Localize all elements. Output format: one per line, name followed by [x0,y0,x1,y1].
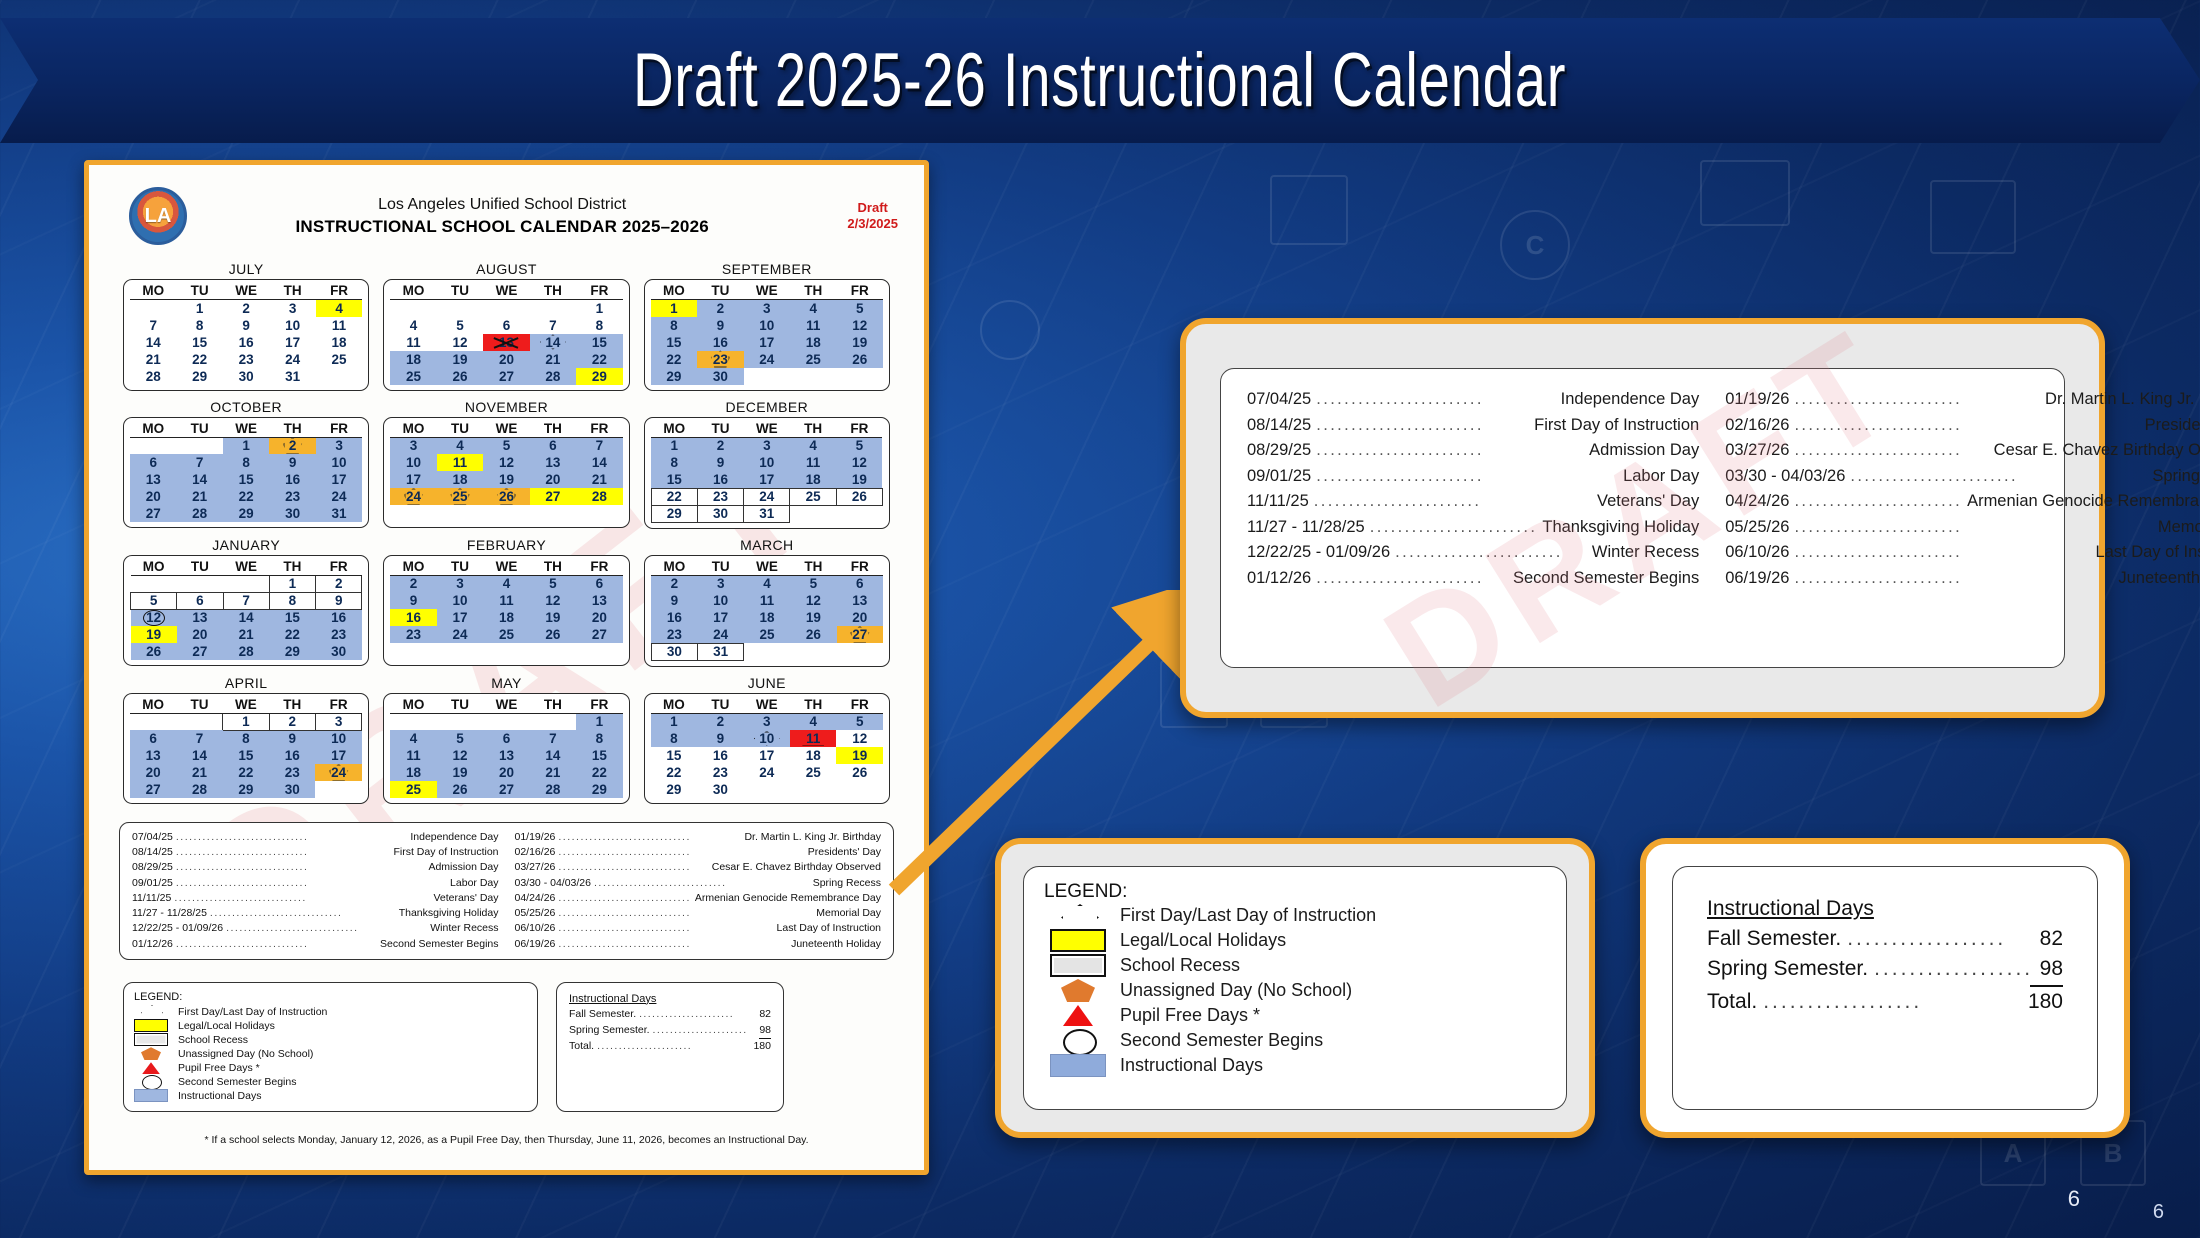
calendar-day-cell[interactable]: 12 [131,609,177,626]
calendar-day-cell[interactable]: 6 [530,437,576,454]
calendar-day-cell[interactable]: 27 [130,505,176,522]
calendar-day-cell[interactable]: 4 [790,713,836,730]
calendar-day-cell[interactable]: 12 [790,592,836,609]
calendar-day-cell[interactable]: 25 [437,488,483,505]
calendar-day-cell[interactable]: 28 [223,643,269,660]
calendar-day-cell[interactable]: 31 [744,505,790,522]
calendar-day-cell[interactable]: 27 [177,643,223,660]
calendar-day-cell[interactable]: 18 [744,609,790,626]
calendar-day-cell[interactable] [176,713,222,730]
calendar-day-cell[interactable]: 7 [176,454,222,471]
calendar-day-cell[interactable]: 21 [176,764,222,781]
calendar-day-cell[interactable]: 8 [651,454,697,471]
calendar-day-cell[interactable]: 5 [437,730,483,747]
calendar-day-cell[interactable] [390,300,436,317]
calendar-day-cell[interactable]: 29 [576,368,623,385]
calendar-day-cell[interactable]: 27 [483,781,529,798]
calendar-day-cell[interactable]: 5 [836,713,883,730]
calendar-day-cell[interactable]: 17 [698,609,744,626]
calendar-day-cell[interactable]: 29 [651,505,697,522]
calendar-day-cell[interactable]: 3 [390,437,436,454]
calendar-day-cell[interactable] [176,437,222,454]
calendar-day-cell[interactable]: 28 [176,781,222,798]
calendar-day-cell[interactable]: 1 [651,713,697,730]
calendar-day-cell[interactable] [390,713,436,730]
calendar-day-cell[interactable]: 11 [437,454,483,471]
calendar-day-cell[interactable]: 22 [651,488,697,505]
calendar-day-cell[interactable]: 18 [390,351,436,368]
calendar-day-cell[interactable]: 28 [130,368,176,385]
calendar-day-cell[interactable]: 24 [698,626,744,643]
calendar-day-cell[interactable]: 8 [576,317,623,334]
calendar-day-cell[interactable] [530,713,576,730]
calendar-day-cell[interactable]: 15 [651,334,697,351]
calendar-day-cell[interactable]: 28 [530,781,576,798]
calendar-day-cell[interactable]: 30 [316,643,362,660]
calendar-day-cell[interactable]: 22 [223,764,269,781]
calendar-day-cell[interactable]: 10 [315,730,361,747]
calendar-day-cell[interactable] [437,300,483,317]
calendar-day-cell[interactable] [177,575,223,592]
calendar-day-cell[interactable]: 4 [390,730,436,747]
calendar-day-cell[interactable]: 6 [130,454,176,471]
calendar-day-cell[interactable]: 10 [437,592,483,609]
calendar-day-cell[interactable]: 26 [483,488,529,505]
calendar-day-cell[interactable]: 28 [530,368,576,385]
calendar-day-cell[interactable]: 17 [744,747,790,764]
calendar-day-cell[interactable]: 2 [697,713,743,730]
calendar-day-cell[interactable]: 23 [697,488,743,505]
calendar-day-cell[interactable]: 9 [223,317,269,334]
calendar-day-cell[interactable] [744,643,790,660]
calendar-day-cell[interactable] [390,643,436,660]
calendar-day-cell[interactable] [836,781,883,798]
calendar-day-cell[interactable]: 1 [651,300,697,317]
calendar-day-cell[interactable] [744,781,790,798]
calendar-day-cell[interactable]: 31 [316,505,363,522]
calendar-day-cell[interactable]: 25 [744,626,790,643]
calendar-day-cell[interactable] [223,575,269,592]
calendar-day-cell[interactable]: 8 [176,317,222,334]
calendar-day-cell[interactable]: 12 [530,592,576,609]
calendar-day-cell[interactable]: 3 [315,713,361,730]
calendar-day-cell[interactable]: 24 [744,351,790,368]
calendar-day-cell[interactable]: 16 [697,334,743,351]
calendar-day-cell[interactable]: 30 [269,781,315,798]
calendar-day-cell[interactable]: 7 [530,317,576,334]
calendar-day-cell[interactable]: 16 [223,334,269,351]
legend-panel[interactable]: LEGEND: First Day/Last Day of Instructio… [995,838,1595,1138]
calendar-day-cell[interactable]: 12 [836,730,883,747]
calendar-day-cell[interactable]: 10 [316,454,363,471]
calendar-day-cell[interactable]: 16 [269,747,315,764]
calendar-day-cell[interactable]: 19 [836,334,883,351]
calendar-day-cell[interactable]: 7 [576,437,623,454]
calendar-day-cell[interactable] [483,713,529,730]
calendar-day-cell[interactable]: 31 [269,368,315,385]
calendar-day-cell[interactable]: 29 [223,505,269,522]
calendar-day-cell[interactable] [437,713,483,730]
calendar-day-cell[interactable] [483,505,529,522]
calendar-day-cell[interactable]: 29 [576,781,623,798]
calendar-day-cell[interactable]: 7 [530,730,576,747]
calendar-day-cell[interactable]: 26 [437,368,483,385]
calendar-day-cell[interactable]: 15 [223,747,269,764]
calendar-day-cell[interactable]: 18 [483,609,529,626]
calendar-day-cell[interactable] [437,643,483,660]
calendar-day-cell[interactable]: 20 [177,626,223,643]
calendar-sheet[interactable]: DRAFT Los Angeles Unified School Distric… [84,160,929,1175]
calendar-day-cell[interactable]: 16 [390,609,436,626]
calendar-day-cell[interactable]: 12 [437,747,483,764]
calendar-day-cell[interactable]: 14 [223,609,269,626]
calendar-day-cell[interactable]: 18 [790,334,836,351]
calendar-day-cell[interactable] [437,505,483,522]
calendar-day-cell[interactable] [530,300,576,317]
calendar-day-cell[interactable]: 29 [223,781,269,798]
calendar-day-cell[interactable]: 21 [576,471,623,488]
calendar-day-cell[interactable]: 4 [437,437,483,454]
calendar-day-cell[interactable]: 23 [269,488,315,505]
calendar-day-cell[interactable]: 11 [390,747,436,764]
calendar-day-cell[interactable]: 20 [130,488,176,505]
calendar-day-cell[interactable]: 22 [223,488,269,505]
calendar-day-cell[interactable]: 2 [697,300,743,317]
calendar-day-cell[interactable]: 11 [790,454,836,471]
calendar-day-cell[interactable]: 24 [744,764,790,781]
calendar-day-cell[interactable]: 26 [836,488,882,505]
calendar-day-cell[interactable]: 11 [316,317,363,334]
calendar-day-cell[interactable] [744,368,790,385]
calendar-day-cell[interactable]: 28 [576,488,623,505]
calendar-day-cell[interactable]: 9 [697,454,743,471]
calendar-day-cell[interactable]: 20 [837,609,883,626]
calendar-day-cell[interactable]: 28 [176,505,222,522]
calendar-day-cell[interactable] [530,643,576,660]
calendar-day-cell[interactable]: 20 [483,764,529,781]
calendar-day-cell[interactable]: 7 [223,592,269,609]
calendar-day-cell[interactable]: 25 [790,764,836,781]
calendar-day-cell[interactable]: 1 [223,713,269,730]
calendar-day-cell[interactable]: 22 [651,351,697,368]
calendar-day-cell[interactable]: 30 [651,643,697,660]
calendar-day-cell[interactable]: 3 [316,437,363,454]
calendar-day-cell[interactable]: 27 [483,368,529,385]
calendar-day-cell[interactable]: 6 [837,575,883,592]
calendar-day-cell[interactable]: 8 [223,730,269,747]
calendar-day-cell[interactable]: 25 [390,368,436,385]
calendar-day-cell[interactable] [130,300,176,317]
calendar-day-cell[interactable]: 24 [390,488,436,505]
calendar-day-cell[interactable]: 4 [790,437,836,454]
calendar-day-cell[interactable]: 1 [576,300,623,317]
calendar-day-cell[interactable]: 26 [790,626,836,643]
calendar-day-cell[interactable]: 29 [651,781,697,798]
calendar-day-cell[interactable] [837,643,883,660]
calendar-day-cell[interactable]: 5 [790,575,836,592]
calendar-day-cell[interactable]: 21 [530,764,576,781]
calendar-day-cell[interactable]: 9 [651,592,697,609]
calendar-day-cell[interactable]: 25 [790,351,836,368]
calendar-day-cell[interactable]: 19 [483,471,529,488]
calendar-day-cell[interactable]: 16 [651,609,697,626]
calendar-day-cell[interactable]: 18 [790,747,836,764]
calendar-day-cell[interactable]: 8 [651,317,697,334]
calendar-day-cell[interactable]: 27 [130,781,176,798]
calendar-day-cell[interactable] [130,713,176,730]
calendar-day-cell[interactable]: 21 [223,626,269,643]
calendar-day-cell[interactable]: 2 [269,437,315,454]
calendar-day-cell[interactable]: 1 [223,437,269,454]
calendar-day-cell[interactable]: 2 [697,437,743,454]
calendar-day-cell[interactable] [790,781,836,798]
calendar-day-cell[interactable]: 5 [483,437,529,454]
calendar-day-cell[interactable]: 2 [390,575,436,592]
calendar-day-cell[interactable] [790,505,836,522]
calendar-day-cell[interactable]: 13 [483,747,529,764]
calendar-day-cell[interactable]: 1 [576,713,623,730]
calendar-day-cell[interactable]: 6 [483,317,529,334]
calendar-day-cell[interactable] [315,781,361,798]
calendar-day-cell[interactable]: 14 [530,334,576,351]
calendar-day-cell[interactable]: 14 [176,747,222,764]
calendar-day-cell[interactable]: 9 [697,317,743,334]
calendar-day-cell[interactable]: 23 [651,626,697,643]
calendar-day-cell[interactable]: 13 [576,592,623,609]
calendar-day-cell[interactable]: 19 [131,626,177,643]
calendar-day-cell[interactable]: 30 [269,505,315,522]
calendar-day-cell[interactable]: 16 [697,471,743,488]
calendar-day-cell[interactable]: 3 [269,300,315,317]
calendar-day-cell[interactable]: 17 [390,471,436,488]
calendar-day-cell[interactable]: 14 [576,454,623,471]
calendar-day-cell[interactable]: 8 [223,454,269,471]
calendar-day-cell[interactable]: 19 [790,609,836,626]
calendar-day-cell[interactable]: 30 [697,368,743,385]
calendar-day-cell[interactable]: 17 [269,334,315,351]
calendar-day-cell[interactable]: 12 [483,454,529,471]
calendar-day-cell[interactable]: 24 [316,488,363,505]
calendar-day-cell[interactable]: 5 [131,592,177,609]
calendar-day-cell[interactable]: 9 [390,592,436,609]
calendar-day-cell[interactable]: 5 [836,300,883,317]
calendar-day-cell[interactable]: 13 [530,454,576,471]
calendar-day-cell[interactable]: 15 [576,747,623,764]
calendar-day-cell[interactable]: 9 [697,730,743,747]
calendar-day-cell[interactable]: 7 [176,730,222,747]
calendar-day-cell[interactable]: 17 [744,334,790,351]
calendar-day-cell[interactable]: 17 [437,609,483,626]
calendar-day-cell[interactable]: 26 [131,643,177,660]
calendar-day-cell[interactable]: 13 [130,471,176,488]
calendar-day-cell[interactable]: 14 [130,334,176,351]
calendar-day-cell[interactable]: 16 [697,747,743,764]
calendar-day-cell[interactable]: 18 [390,764,436,781]
calendar-day-cell[interactable] [836,505,882,522]
calendar-day-cell[interactable]: 24 [269,351,315,368]
calendar-day-cell[interactable] [316,368,363,385]
calendar-day-cell[interactable]: 17 [316,471,363,488]
calendar-day-cell[interactable]: 11 [744,592,790,609]
calendar-day-cell[interactable] [483,643,529,660]
calendar-day-cell[interactable]: 22 [176,351,222,368]
calendar-day-cell[interactable]: 27 [837,626,883,643]
calendar-day-cell[interactable]: 22 [576,351,623,368]
calendar-day-cell[interactable]: 23 [390,626,436,643]
calendar-day-cell[interactable]: 8 [576,730,623,747]
calendar-day-cell[interactable] [530,505,576,522]
holidays-panel[interactable]: DRAFT 07/04/25........................In… [1180,318,2105,718]
calendar-day-cell[interactable]: 19 [437,351,483,368]
calendar-day-cell[interactable]: 21 [176,488,222,505]
calendar-day-cell[interactable]: 13 [483,334,529,351]
calendar-day-cell[interactable]: 25 [390,781,436,798]
calendar-day-cell[interactable]: 4 [390,317,436,334]
calendar-day-cell[interactable]: 11 [390,334,436,351]
calendar-day-cell[interactable]: 22 [651,764,697,781]
calendar-day-cell[interactable]: 10 [744,317,790,334]
calendar-day-cell[interactable]: 10 [698,592,744,609]
calendar-day-cell[interactable]: 10 [744,730,790,747]
calendar-day-cell[interactable]: 26 [836,764,883,781]
calendar-day-cell[interactable] [836,368,883,385]
calendar-day-cell[interactable]: 24 [315,764,361,781]
calendar-day-cell[interactable]: 4 [483,575,529,592]
calendar-day-cell[interactable]: 23 [316,626,362,643]
calendar-day-cell[interactable]: 13 [130,747,176,764]
calendar-day-cell[interactable]: 8 [651,730,697,747]
calendar-day-cell[interactable] [790,643,836,660]
calendar-day-cell[interactable]: 13 [837,592,883,609]
calendar-day-cell[interactable]: 26 [437,781,483,798]
calendar-day-cell[interactable]: 26 [530,626,576,643]
calendar-day-cell[interactable]: 29 [176,368,222,385]
calendar-day-cell[interactable]: 25 [483,626,529,643]
instructional-days-panel[interactable]: Instructional Days Fall Semester........… [1640,838,2130,1138]
calendar-day-cell[interactable]: 16 [316,609,362,626]
calendar-day-cell[interactable]: 30 [697,781,743,798]
calendar-day-cell[interactable]: 20 [483,351,529,368]
calendar-day-cell[interactable]: 3 [698,575,744,592]
calendar-day-cell[interactable]: 23 [223,351,269,368]
calendar-day-cell[interactable]: 11 [790,730,836,747]
calendar-day-cell[interactable]: 12 [437,334,483,351]
calendar-day-cell[interactable]: 17 [315,747,361,764]
calendar-day-cell[interactable]: 14 [530,747,576,764]
calendar-day-cell[interactable]: 22 [269,626,315,643]
calendar-day-cell[interactable]: 1 [651,437,697,454]
calendar-day-cell[interactable]: 29 [269,643,315,660]
calendar-day-cell[interactable]: 5 [836,437,882,454]
calendar-day-cell[interactable]: 25 [316,351,363,368]
calendar-day-cell[interactable]: 26 [836,351,883,368]
calendar-day-cell[interactable]: 4 [744,575,790,592]
calendar-day-cell[interactable]: 2 [223,300,269,317]
calendar-day-cell[interactable]: 7 [130,317,176,334]
calendar-day-cell[interactable]: 10 [390,454,436,471]
calendar-day-cell[interactable]: 15 [651,471,697,488]
calendar-day-cell[interactable]: 11 [483,592,529,609]
calendar-day-cell[interactable]: 16 [269,471,315,488]
calendar-day-cell[interactable]: 24 [744,488,790,505]
calendar-day-cell[interactable]: 20 [530,471,576,488]
calendar-day-cell[interactable]: 3 [744,713,790,730]
calendar-day-cell[interactable]: 23 [269,764,315,781]
calendar-day-cell[interactable]: 18 [316,334,363,351]
calendar-day-cell[interactable]: 19 [836,747,883,764]
calendar-day-cell[interactable]: 6 [130,730,176,747]
calendar-day-cell[interactable]: 25 [790,488,836,505]
calendar-day-cell[interactable]: 1 [176,300,222,317]
calendar-day-cell[interactable]: 6 [483,730,529,747]
calendar-day-cell[interactable]: 15 [269,609,315,626]
calendar-day-cell[interactable]: 10 [744,454,790,471]
calendar-day-cell[interactable]: 19 [437,764,483,781]
calendar-day-cell[interactable]: 2 [316,575,362,592]
calendar-day-cell[interactable]: 20 [130,764,176,781]
calendar-day-cell[interactable]: 19 [530,609,576,626]
calendar-day-cell[interactable]: 2 [269,713,315,730]
calendar-day-cell[interactable]: 2 [651,575,697,592]
calendar-day-cell[interactable]: 15 [223,471,269,488]
calendar-day-cell[interactable]: 21 [530,351,576,368]
calendar-day-cell[interactable]: 3 [437,575,483,592]
calendar-day-cell[interactable] [483,300,529,317]
calendar-day-cell[interactable] [790,368,836,385]
calendar-day-cell[interactable]: 23 [697,764,743,781]
calendar-day-cell[interactable] [130,437,176,454]
calendar-day-cell[interactable]: 13 [177,609,223,626]
calendar-day-cell[interactable]: 15 [576,334,623,351]
calendar-day-cell[interactable]: 12 [836,454,882,471]
calendar-day-cell[interactable] [390,505,436,522]
calendar-day-cell[interactable]: 1 [269,575,315,592]
calendar-day-cell[interactable]: 12 [836,317,883,334]
calendar-day-cell[interactable]: 29 [651,368,697,385]
calendar-day-cell[interactable]: 21 [130,351,176,368]
calendar-day-cell[interactable]: 4 [316,300,363,317]
calendar-day-cell[interactable]: 5 [530,575,576,592]
calendar-day-cell[interactable] [131,575,177,592]
calendar-day-cell[interactable]: 23 [697,351,743,368]
calendar-day-cell[interactable]: 27 [576,626,623,643]
calendar-day-cell[interactable]: 18 [790,471,836,488]
calendar-day-cell[interactable]: 17 [744,471,790,488]
calendar-day-cell[interactable]: 6 [177,592,223,609]
calendar-day-cell[interactable]: 30 [223,368,269,385]
calendar-day-cell[interactable]: 27 [530,488,576,505]
calendar-day-cell[interactable]: 24 [437,626,483,643]
calendar-day-cell[interactable]: 4 [790,300,836,317]
calendar-day-cell[interactable]: 6 [576,575,623,592]
calendar-day-cell[interactable]: 9 [269,730,315,747]
calendar-day-cell[interactable]: 9 [269,454,315,471]
calendar-day-cell[interactable]: 30 [697,505,743,522]
calendar-day-cell[interactable]: 3 [744,300,790,317]
calendar-day-cell[interactable]: 9 [316,592,362,609]
calendar-day-cell[interactable]: 15 [176,334,222,351]
calendar-day-cell[interactable]: 11 [790,317,836,334]
calendar-day-cell[interactable]: 19 [836,471,882,488]
calendar-day-cell[interactable] [576,505,623,522]
calendar-day-cell[interactable]: 3 [744,437,790,454]
calendar-day-cell[interactable]: 20 [576,609,623,626]
calendar-day-cell[interactable]: 31 [698,643,744,660]
calendar-day-cell[interactable]: 22 [576,764,623,781]
calendar-day-cell[interactable]: 18 [437,471,483,488]
calendar-day-cell[interactable]: 10 [269,317,315,334]
calendar-day-cell[interactable] [576,643,623,660]
